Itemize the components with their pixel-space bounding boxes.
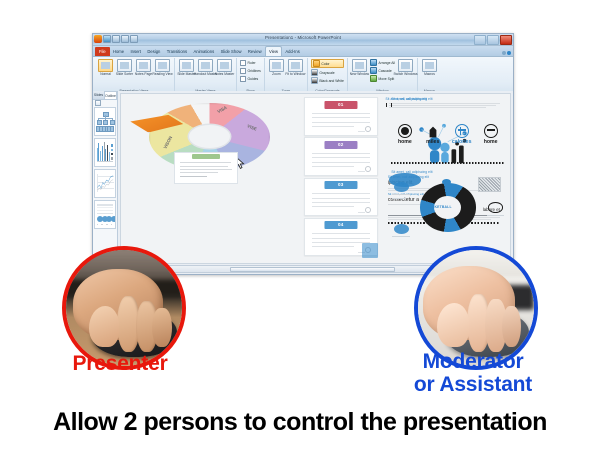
heart-circle-icon: [389, 173, 420, 187]
switch-windows-icon: [398, 59, 413, 72]
plus-circle-icon: [455, 124, 469, 138]
card-tag-02: 02: [324, 141, 357, 149]
minus-circle-icon: [484, 124, 498, 138]
card-tag-01: 01: [324, 101, 357, 109]
tab-transitions[interactable]: Transitions: [164, 47, 191, 56]
card-number-01: 01: [338, 102, 344, 107]
map-thumbnail: [478, 177, 501, 191]
minimize-ribbon-icon[interactable]: [502, 51, 506, 55]
tab-view[interactable]: View: [265, 46, 282, 56]
tab-add-ins[interactable]: Add-Ins: [282, 47, 303, 56]
presenter-photo: [66, 250, 182, 366]
thumbnail-line-chart[interactable]: [94, 169, 116, 198]
ribbon-help-icons[interactable]: [502, 51, 512, 55]
macros-button[interactable]: Macros: [421, 59, 438, 77]
stat-icon-2: [394, 224, 409, 234]
line-series-icon: [97, 174, 114, 192]
section-heading-4: Sit amet, call adipiscing elit: [391, 97, 504, 101]
reading-view-button[interactable]: Reading View: [154, 59, 171, 77]
macros-icon: [422, 59, 437, 72]
pane-tabs[interactable]: Slides Outline: [93, 91, 117, 100]
card-arrow-icon[interactable]: [365, 126, 371, 132]
new-window-icon: [352, 59, 367, 72]
thumbnail-table-icons[interactable]: [94, 200, 116, 229]
bottom-caption: Allow 2 persons to control the presentat…: [0, 408, 600, 437]
thumbnail-org-chart[interactable]: [94, 107, 116, 136]
ribbon-group-presentation-views: Normal Slide Sorter Notes Page Reading V…: [94, 58, 175, 94]
switch-windows-button[interactable]: Switch Windows: [397, 59, 414, 77]
macros-label: Macros: [424, 73, 435, 77]
move-split-label: Move Split: [378, 77, 394, 81]
ribbon-group-zoom: Zoom Fit to Window Zoom: [265, 58, 308, 94]
new-window-button[interactable]: New Window: [351, 59, 368, 77]
ruler-label: Ruler: [248, 61, 256, 65]
tab-insert[interactable]: Insert: [127, 47, 144, 56]
workspace: Slides Outline: [93, 91, 513, 274]
gridlines-checkbox[interactable]: Gridlines: [240, 67, 261, 74]
gridlines-label: Gridlines: [248, 69, 261, 73]
notes-page-icon: [136, 59, 151, 72]
magnifier-icon: [269, 59, 284, 72]
cascade-icon: [370, 67, 377, 74]
card-01[interactable]: 01: [304, 97, 378, 136]
notes-master-icon: [217, 59, 232, 72]
card-arrow-icon[interactable]: [365, 207, 371, 213]
logo-tag: [192, 154, 219, 159]
metric-home-1[interactable]: home: [391, 124, 418, 146]
maximize-button[interactable]: [487, 35, 499, 45]
notes-master-label: Notes Master: [215, 73, 235, 77]
switch-windows-label: Switch Windows: [393, 73, 417, 77]
scrollbar-thumb[interactable]: [230, 267, 395, 272]
slide-sorter-label: Slide Sorter: [116, 73, 133, 77]
metrics-panel[interactable]: Sit amet, call adipiscing elit home: [391, 97, 504, 175]
help-icon[interactable]: [507, 51, 511, 55]
tab-animations[interactable]: Animations: [190, 47, 217, 56]
handout-master-icon: [198, 59, 213, 72]
moderator-label-line2: or Assistant: [398, 373, 548, 396]
notes-page-button[interactable]: Notes Page: [135, 59, 152, 77]
metric-calories[interactable]: calories: [447, 124, 476, 146]
grayscale-label: Grayscale: [319, 71, 334, 75]
card-footer-line: [358, 171, 365, 172]
cascade-label: Cascade: [378, 69, 391, 73]
powerpoint-window: Presentation1 - Microsoft PowerPoint Fil…: [92, 33, 514, 275]
fit-to-window-label: Fit to Window: [285, 73, 305, 77]
pie-infographic[interactable]: VISA VISE VISON VISI: [137, 99, 293, 187]
presenter-label: Presenter: [42, 352, 198, 376]
notes-master-button[interactable]: Notes Master: [216, 59, 233, 77]
card-number-02: 02: [338, 142, 344, 147]
moderator-label: Moderator or Assistant: [398, 350, 548, 396]
tab-file[interactable]: File: [95, 47, 110, 56]
pane-tab-slides[interactable]: Slides: [93, 91, 104, 99]
window-controls[interactable]: [474, 35, 512, 45]
ribbon-group-window: New Window Arrange All Cascade Move Spli…: [348, 58, 418, 94]
guides-checkbox[interactable]: Guides: [240, 75, 261, 82]
window-title: Presentation1 - Microsoft PowerPoint: [93, 35, 513, 40]
move-split-icon: [370, 75, 377, 82]
metric-home-2[interactable]: home: [477, 124, 504, 146]
ribbon-group-show: Ruler Gridlines Guides Show: [237, 58, 265, 94]
moderator-photo: [418, 250, 534, 366]
normal-view-icon: [98, 59, 113, 72]
metric-label-miles: miles: [426, 139, 439, 145]
slide-editing-area[interactable]: VISA VISE VISON VISI: [118, 91, 513, 274]
metric-label-home-1: home: [398, 139, 412, 145]
reading-view-label: Reading View: [152, 73, 172, 77]
card-footer-line: [358, 131, 365, 132]
tab-slide-show[interactable]: Slide Show: [217, 47, 244, 56]
tab-home[interactable]: Home: [110, 47, 128, 56]
arrange-all-button[interactable]: Arrange All: [370, 59, 395, 66]
person-icon: [362, 243, 378, 258]
ribbon-group-macros: Macros Macros: [418, 58, 441, 94]
slide-master-button[interactable]: Slide Master: [178, 59, 195, 77]
color-label: Color: [321, 62, 329, 66]
filled-circle-icon: [398, 124, 412, 138]
card-02[interactable]: 02: [304, 137, 378, 176]
card-number-03: 03: [338, 182, 344, 187]
color-button[interactable]: Color: [311, 59, 344, 68]
slide-master-icon: [179, 59, 194, 72]
arrange-all-label: Arrange All: [378, 61, 395, 65]
card-footer-line: [358, 212, 365, 213]
new-window-label: New Window: [350, 73, 369, 77]
handout-master-button[interactable]: Handout Master: [197, 59, 214, 77]
tab-review[interactable]: Review: [245, 47, 265, 56]
zoom-label: Zoom: [272, 73, 280, 77]
slide-sorter-icon: [117, 59, 132, 72]
black-and-white-label: Black and White: [319, 79, 344, 83]
ribbon-tabs[interactable]: File Home Insert Design Transitions Anim…: [93, 46, 513, 57]
card-tag-03: 03: [324, 181, 357, 189]
donut-label: BASKETBALL: [427, 205, 452, 209]
black-and-white-button[interactable]: Black and White: [311, 77, 344, 84]
stat-icon-3: [488, 202, 503, 213]
fit-to-window-button[interactable]: Fit to Window: [287, 59, 304, 77]
cascade-button[interactable]: Cascade: [370, 67, 395, 74]
move-split-button[interactable]: Move Split: [370, 75, 395, 82]
reading-view-icon: [155, 59, 170, 72]
card-03[interactable]: 03: [304, 178, 378, 217]
thumbnail-bar-chart[interactable]: [94, 138, 116, 167]
card-tag-04: 04: [324, 221, 357, 229]
pane-tab-outline[interactable]: Outline: [104, 91, 117, 99]
card-number-04: 04: [338, 222, 344, 227]
pin-icon: [427, 126, 439, 138]
checkbox-icon: [240, 68, 246, 74]
dashed-separator: [391, 162, 504, 164]
black-and-white-icon: [311, 77, 318, 84]
numbered-card-column[interactable]: 01 02: [304, 97, 378, 256]
checkbox-icon: [240, 60, 246, 66]
handout-master-label: Handout Master: [194, 73, 217, 77]
ribbon-group-master-views: Slide Master Handout Master Notes Master…: [175, 58, 237, 94]
ruler-checkbox[interactable]: Ruler: [240, 59, 261, 66]
moderator-label-line1: Moderator: [398, 350, 548, 373]
arrange-all-icon: [370, 59, 377, 66]
metric-label-home-2: home: [484, 139, 498, 145]
window-titlebar[interactable]: Presentation1 - Microsoft PowerPoint: [93, 34, 513, 46]
pie-caption-card: [174, 152, 238, 184]
metric-label-calories: calories: [452, 139, 472, 145]
tab-design[interactable]: Design: [144, 47, 163, 56]
slide-canvas[interactable]: VISA VISE VISON VISI: [120, 93, 511, 264]
ribbon-group-color-grayscale: Color Grayscale Black and White Color/Gr…: [308, 58, 348, 94]
card-arrow-icon[interactable]: [365, 166, 371, 172]
zoom-button[interactable]: Zoom: [268, 59, 285, 77]
grayscale-button[interactable]: Grayscale: [311, 69, 344, 76]
fit-to-window-icon: [288, 59, 303, 72]
minimize-button[interactable]: [474, 35, 486, 45]
slide-sorter-button[interactable]: Slide Sorter: [116, 59, 133, 77]
checkbox-icon: [240, 76, 246, 82]
guides-label: Guides: [248, 77, 259, 81]
notes-page-label: Notes Page: [135, 73, 152, 77]
close-button[interactable]: [500, 35, 512, 45]
color-icon: [313, 60, 320, 67]
normal-view-label: Normal: [100, 73, 111, 77]
ribbon: Normal Slide Sorter Notes Page Reading V…: [93, 57, 513, 95]
normal-view-button[interactable]: Normal: [97, 59, 114, 77]
metric-miles[interactable]: miles: [419, 126, 446, 146]
grayscale-icon: [311, 69, 318, 76]
